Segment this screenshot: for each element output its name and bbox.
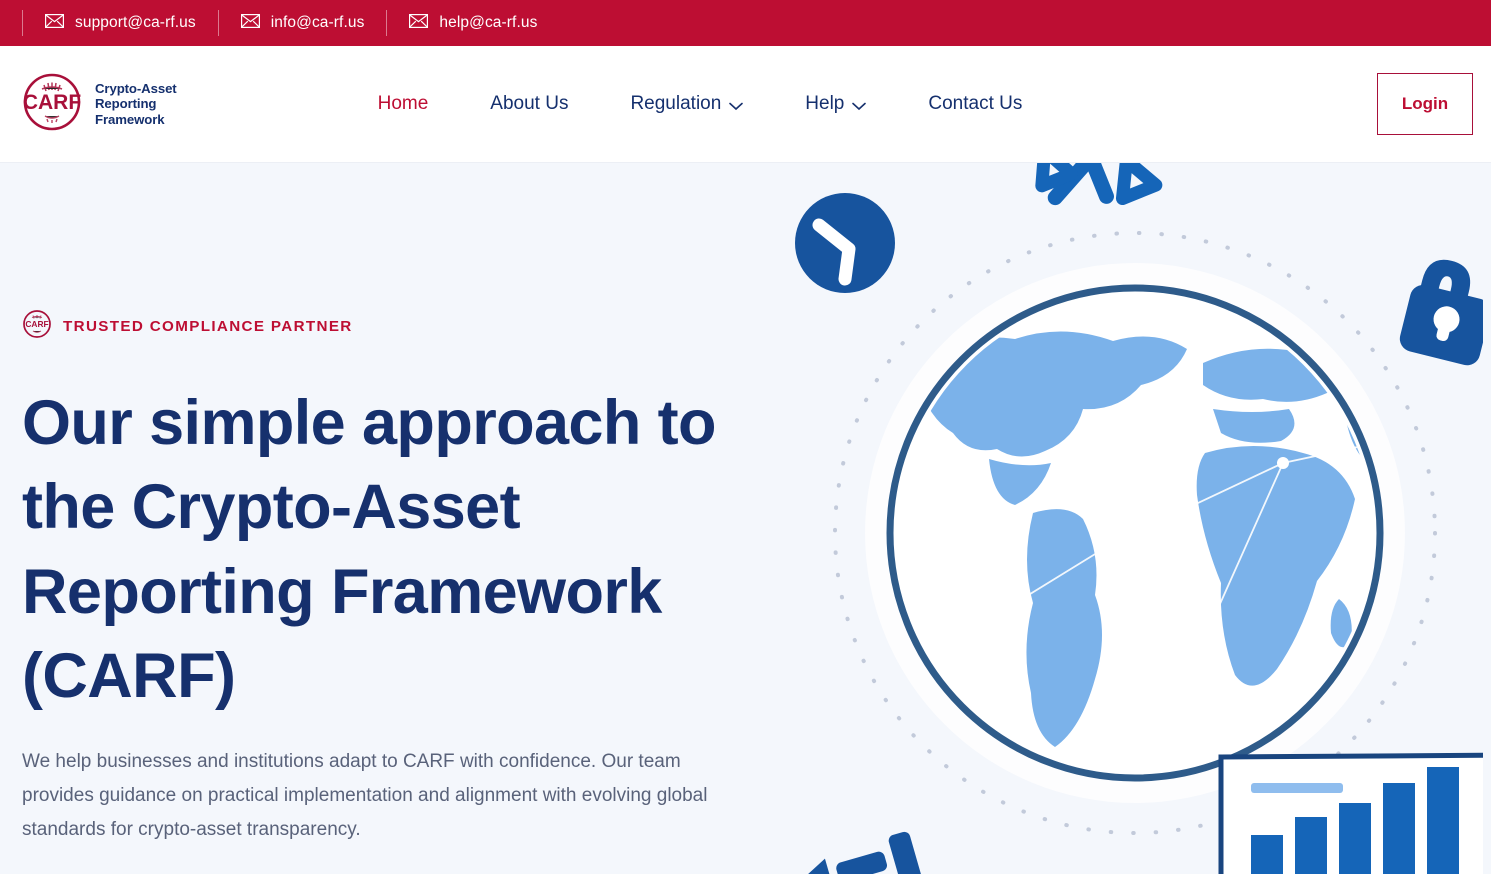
carf-seal-icon: CARF <box>22 309 52 344</box>
trusted-partner-badge: CARF TRUSTED COMPLIANCE PARTNER <box>22 309 742 344</box>
scales-of-justice-icon <box>1024 163 1176 225</box>
svg-text:CARF: CARF <box>23 91 81 114</box>
nav-item-label: Contact Us <box>928 93 1022 115</box>
login-button[interactable]: Login <box>1377 73 1473 135</box>
logo-wordmark: Crypto-Asset Reporting Framework <box>95 81 177 127</box>
nav-item-label: Home <box>378 93 429 115</box>
nav-item-contact-us[interactable]: Contact Us <box>897 93 1053 115</box>
chevron-down-icon <box>852 95 866 117</box>
bar-chart-document-icon <box>797 830 937 874</box>
carf-seal-icon: CARF <box>18 71 86 138</box>
nav-item-about-us[interactable]: About Us <box>459 93 599 115</box>
contact-email-help[interactable]: help@ca-rf.us <box>386 10 559 36</box>
login-button-label: Login <box>1402 94 1448 114</box>
nav-item-label: About Us <box>490 93 568 115</box>
nav-item-regulation[interactable]: Regulation <box>599 92 774 117</box>
nav-item-home[interactable]: Home <box>347 93 460 115</box>
mail-icon <box>241 14 260 33</box>
trusted-partner-label: TRUSTED COMPLIANCE PARTNER <box>63 318 353 335</box>
clock-icon <box>795 193 895 293</box>
hero-subtext: We help businesses and institutions adap… <box>22 745 722 847</box>
logo-line-3: Framework <box>95 112 177 127</box>
mail-icon <box>409 14 428 33</box>
contact-email-info[interactable]: info@ca-rf.us <box>218 10 387 36</box>
contact-email-label: support@ca-rf.us <box>75 14 196 32</box>
global-crypto-compliance-illustration: ₿ <box>783 163 1483 874</box>
hero-section: CARF TRUSTED COMPLIANCE PARTNER Our simp… <box>0 163 1491 874</box>
contact-email-label: help@ca-rf.us <box>439 14 537 32</box>
nav-item-help[interactable]: Help <box>774 92 897 117</box>
main-navigation: Home About Us Regulation Help Contact Us <box>347 92 1054 117</box>
padlock-icon <box>1397 253 1483 368</box>
svg-text:CARF: CARF <box>25 319 48 329</box>
nav-item-label: Help <box>805 93 844 115</box>
hero-headline: Our simple approach to the Crypto-Asset … <box>22 381 742 719</box>
nav-item-label: Regulation <box>630 93 721 115</box>
chevron-down-icon <box>729 95 743 117</box>
logo-line-2: Reporting <box>95 96 177 111</box>
mail-icon <box>45 14 64 33</box>
logo-line-1: Crypto-Asset <box>95 81 177 96</box>
site-logo[interactable]: CARF Crypto-Asset Reporting Framework <box>18 71 177 138</box>
contact-email-label: info@ca-rf.us <box>271 14 365 32</box>
hero-copy: CARF TRUSTED COMPLIANCE PARTNER Our simp… <box>22 309 742 847</box>
top-contact-bar: support@ca-rf.us info@ca-rf.us help@ca-r… <box>0 0 1491 46</box>
contact-email-support[interactable]: support@ca-rf.us <box>22 10 218 36</box>
site-header: CARF Crypto-Asset Reporting Framework Ho… <box>0 46 1491 163</box>
report-document-icon <box>1221 755 1483 874</box>
